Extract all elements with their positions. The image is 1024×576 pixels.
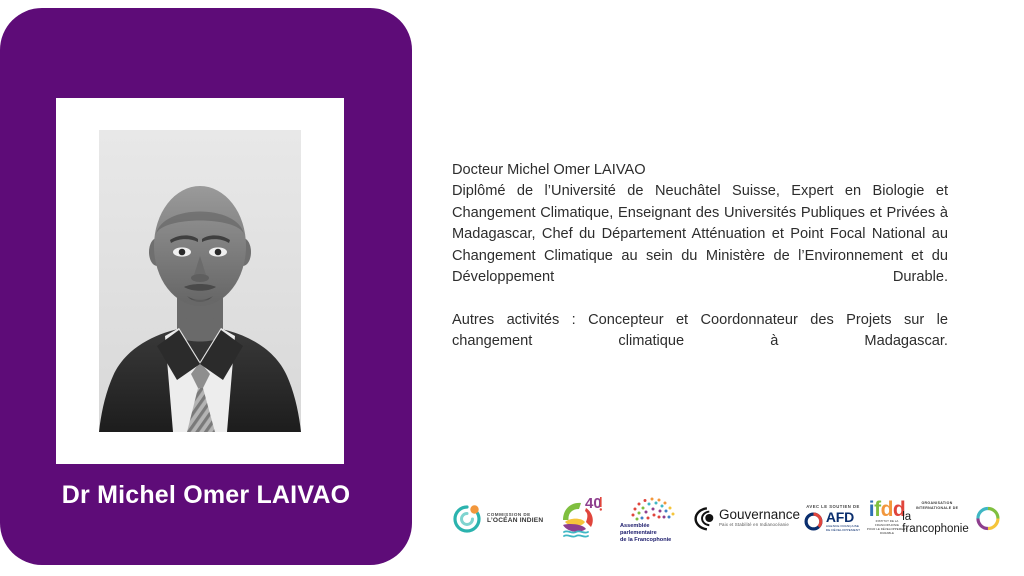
gouvernance-title: Gouvernance [719, 508, 800, 522]
apf-wordmark: Assemblée parlementaire de la Francophon… [614, 523, 694, 544]
photo-frame [56, 98, 344, 464]
afd-logo: AVEC LE SOUTIEN DE AFD AGENCE FRANÇAISE … [800, 487, 864, 549]
apf-line-3: de la Francophonie [620, 537, 694, 544]
afd-circle-icon [804, 512, 823, 531]
gouvernance-icon [694, 503, 715, 533]
afd-acronym: AFD [826, 511, 860, 524]
coi-line-2: L’OCÉAN INDIEN [487, 518, 543, 524]
assemblee-parlementaire-francophonie-logo: Assemblée parlementaire de la Francophon… [614, 487, 694, 549]
oif-ring-icon [976, 505, 1000, 532]
organisation-internationale-francophonie-logo: ORGANISATION INTERNATIONALE DE la franco… [910, 487, 992, 549]
afd-subtitle-2: DE DÉVELOPPEMENT [826, 528, 860, 532]
gouvernance-logo: Gouvernance Paix et Stabilité en Indiano… [694, 487, 800, 549]
bio-lead-line: Docteur Michel Omer LAIVAO [452, 160, 948, 181]
portrait-photo [99, 130, 301, 432]
bio-paragraph-1: Diplômé de l’Université de Neuchâtel Sui… [452, 181, 948, 309]
apf-hemicycle-icon [623, 493, 685, 521]
biography-text: Docteur Michel Omer LAIVAO Diplômé de l’… [452, 160, 948, 374]
coi-wordmark: COMMISSION DE L’OCÉAN INDIEN [487, 512, 543, 525]
bio-paragraph-2: Autres activités : Concepteur et Coordon… [452, 310, 948, 374]
ifdd-acronym: ifdd [869, 500, 906, 520]
oif-wordmark: la francophonie [902, 511, 972, 535]
commission-ocean-indien-logo: COMMISSION DE L’OCÉAN INDIEN [452, 487, 548, 549]
coi-spiral-icon [452, 503, 482, 533]
partner-logo-strip: COMMISSION DE L’OCÉAN INDIEN 40 [452, 487, 992, 549]
anniversary-emblem-icon: 40 [555, 494, 607, 542]
gouvernance-wordmark: Gouvernance Paix et Stabilité en Indiano… [719, 508, 800, 528]
profile-card: Dr Michel Omer LAIVAO [0, 8, 412, 565]
coi-40-years-logo: 40 [548, 487, 614, 549]
apf-line-2: parlementaire [620, 530, 694, 537]
gouvernance-subtitle: Paix et Stabilité en Indianocéanie [719, 522, 800, 528]
apf-line-1: Assemblée [620, 523, 694, 530]
portrait-illustration [99, 130, 301, 432]
profile-name: Dr Michel Omer LAIVAO [0, 481, 412, 510]
anniversary-number: 40 [585, 495, 602, 512]
